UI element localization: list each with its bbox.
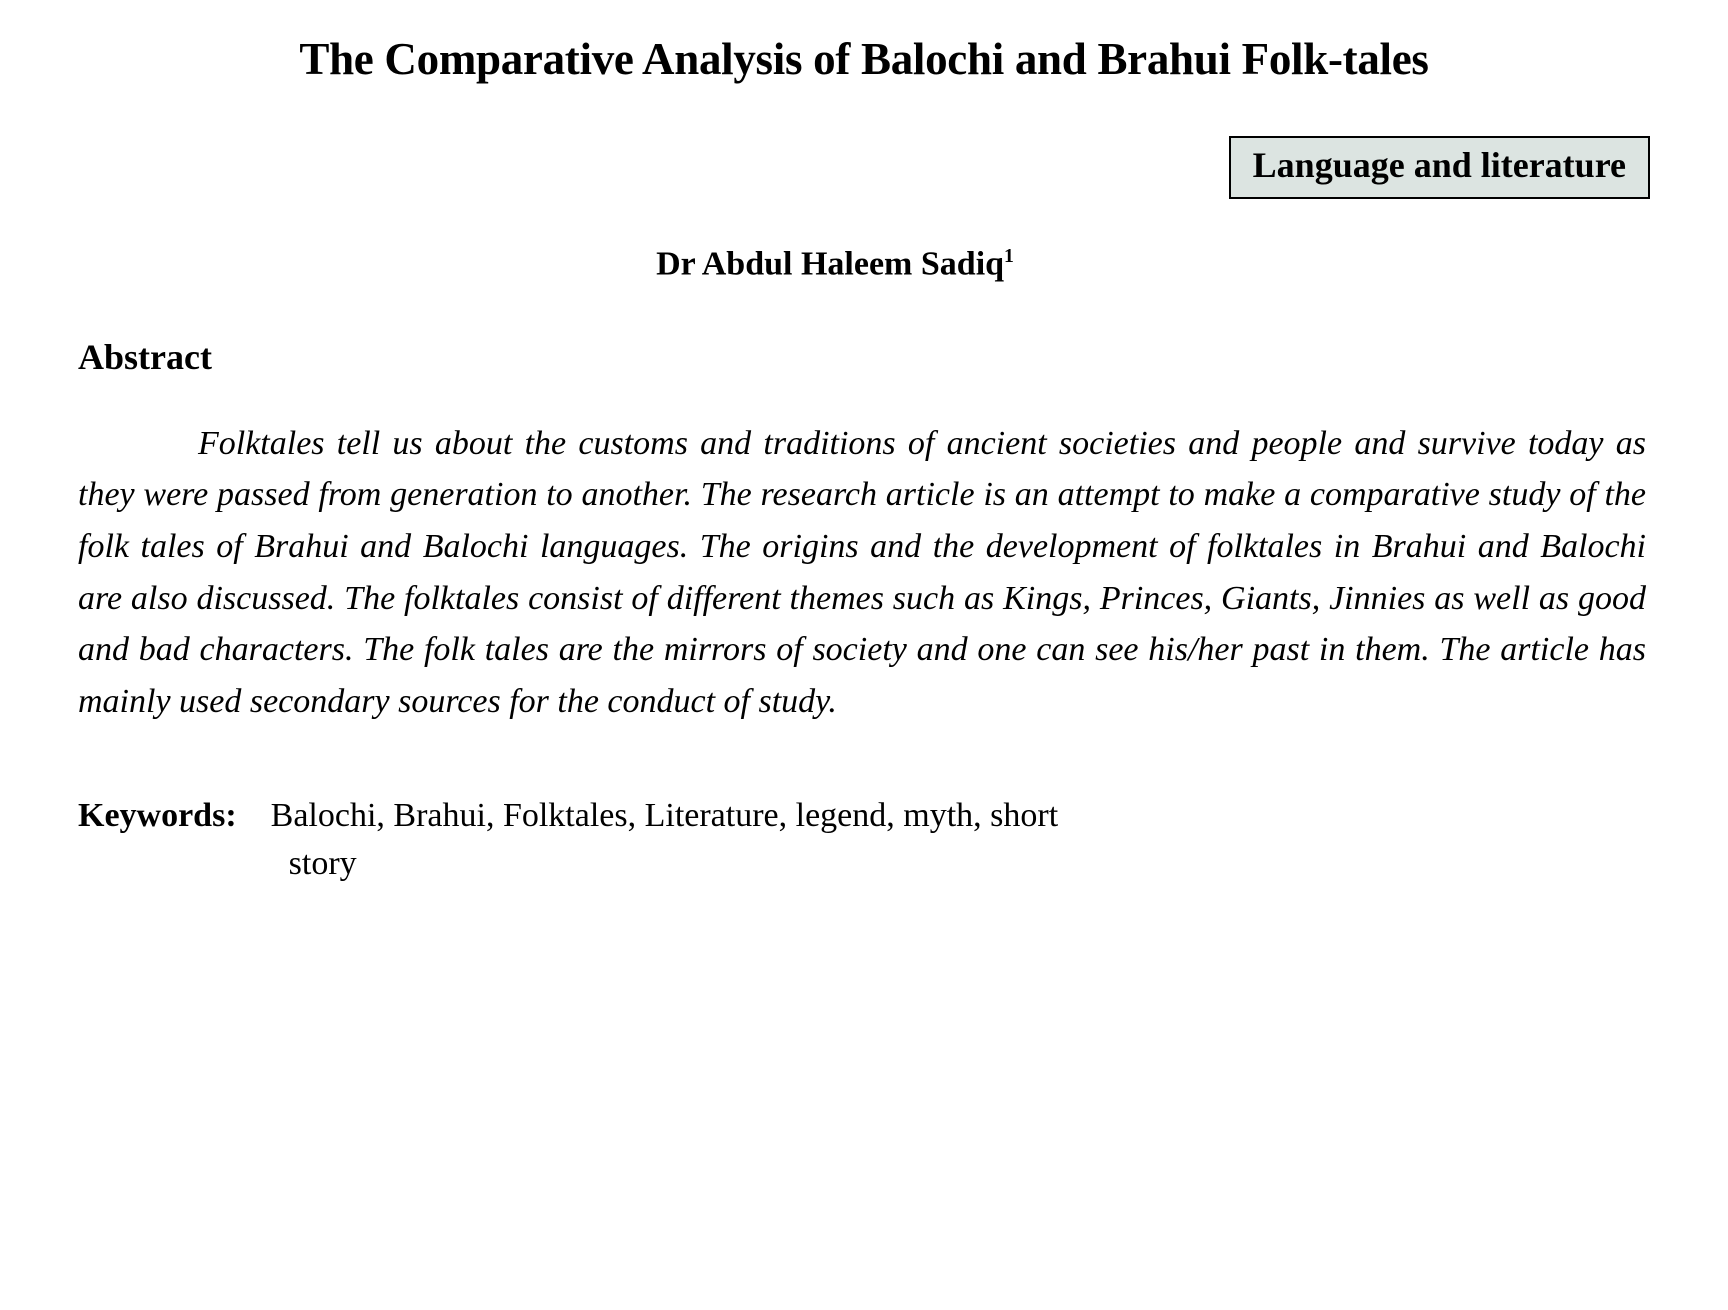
keywords-values-line-1: Balochi, Brahui, Folktales, Literature, … xyxy=(271,797,1059,834)
keywords-block: Keywords: Balochi, Brahui, Folktales, Li… xyxy=(78,728,1650,889)
author-footnote-marker: 1 xyxy=(1004,245,1014,267)
page-title: The Comparative Analysis of Balochi and … xyxy=(78,0,1650,86)
category-badge-label: Language and literature xyxy=(1253,145,1626,185)
author-byline: Dr Abdul Haleem Sadiq1 xyxy=(78,199,1650,283)
category-badge-row: Language and literature xyxy=(78,136,1650,200)
abstract-body-text: Folktales tell us about the customs and … xyxy=(78,378,1650,728)
abstract-heading: Abstract xyxy=(78,284,1650,378)
document-page: The Comparative Analysis of Balochi and … xyxy=(0,0,1728,1310)
keywords-values: Balochi, Brahui, Folktales, Literature, … xyxy=(237,792,1059,889)
keywords-colon: : xyxy=(225,792,236,840)
keywords-values-line-2: story xyxy=(271,840,1059,888)
keywords-label: Keywords xyxy=(78,792,225,840)
category-badge: Language and literature xyxy=(1229,136,1650,200)
author-name: Dr Abdul Haleem Sadiq xyxy=(656,246,1004,283)
